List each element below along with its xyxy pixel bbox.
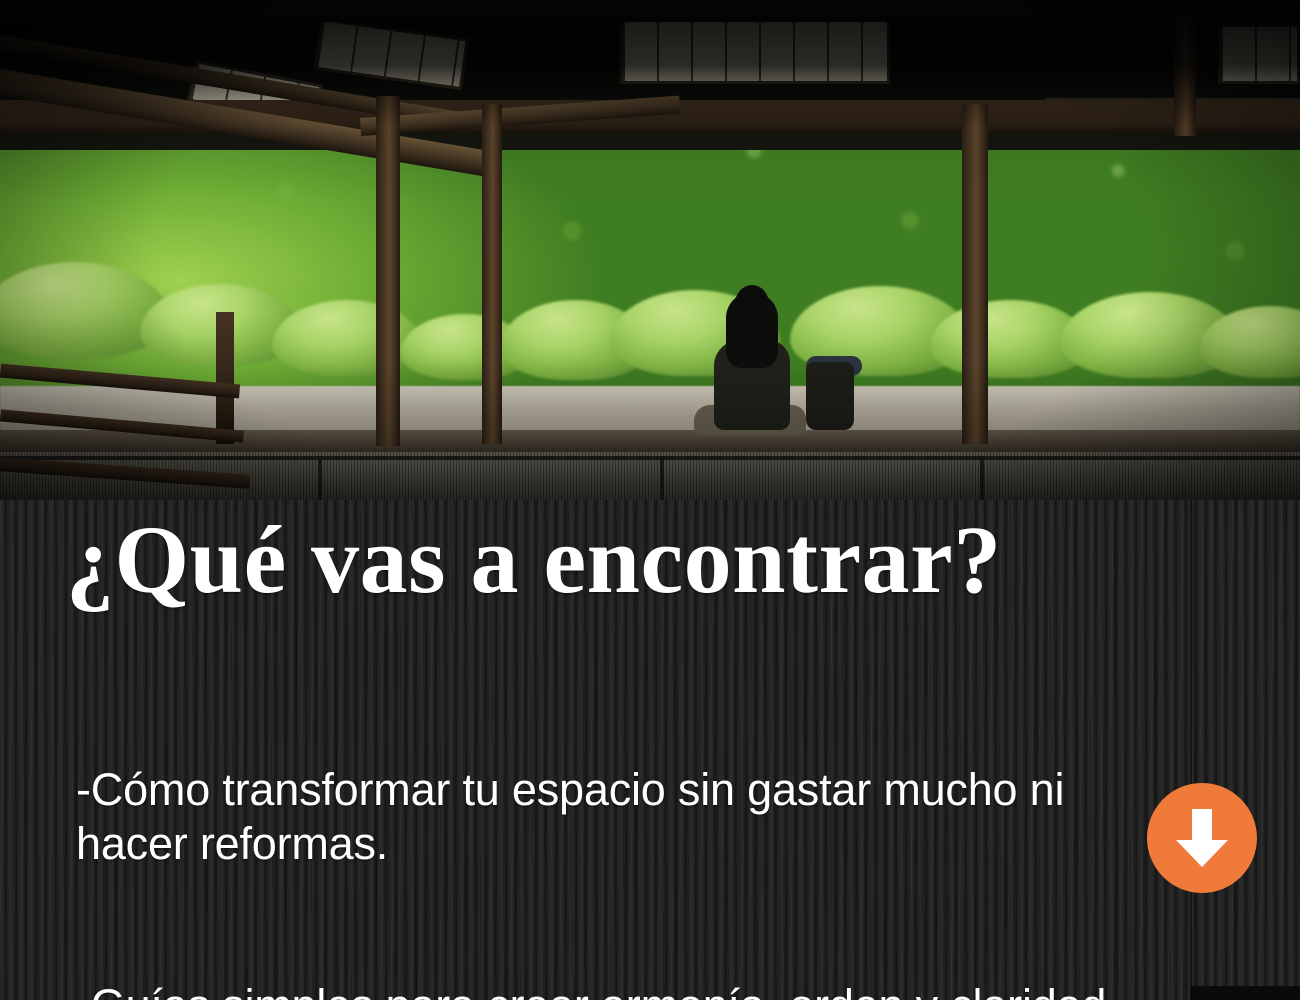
tatami-seam xyxy=(980,456,984,502)
person-head xyxy=(735,285,769,323)
shoji-panel xyxy=(1218,24,1300,84)
hero-photo xyxy=(0,0,1300,502)
list-item: -Cómo transformar tu espacio sin gastar … xyxy=(76,763,1116,871)
veranda-post xyxy=(1174,16,1196,136)
arrow-down-icon xyxy=(1171,805,1233,871)
veranda-post xyxy=(482,104,502,444)
shoji-panel xyxy=(620,18,890,84)
list-item: -Guías simples para crear armonía, orden… xyxy=(76,979,1116,1000)
tatami-seam xyxy=(0,456,1300,460)
poster: ¿Qué vas a encontrar? -Cómo transformar … xyxy=(0,0,1300,1000)
railing-post xyxy=(216,312,234,444)
veranda-post xyxy=(376,96,400,446)
ceiling-beam xyxy=(0,0,1300,22)
download-cta-button[interactable] xyxy=(1147,783,1257,893)
slat-seam xyxy=(1190,500,1192,1000)
benefits-list: -Cómo transformar tu espacio sin gastar … xyxy=(76,655,1116,1000)
tatami-seam xyxy=(318,456,322,502)
page-title: ¿Qué vas a encontrar? xyxy=(66,512,1002,608)
panel-bottom-strip xyxy=(1190,986,1300,1000)
backpack xyxy=(806,362,854,430)
veranda-post xyxy=(962,104,988,444)
tatami-seam xyxy=(660,456,664,502)
